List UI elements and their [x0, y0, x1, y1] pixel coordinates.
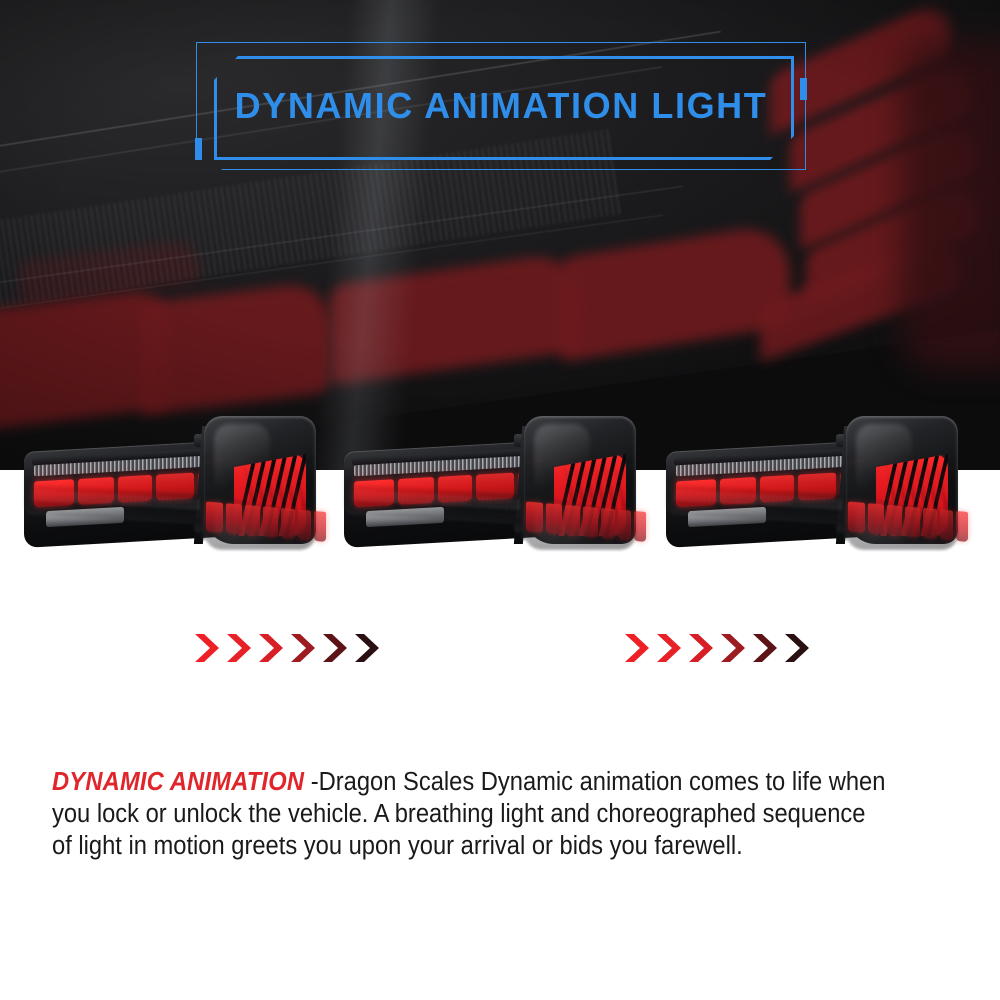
chevron-arrow-icon	[784, 633, 810, 663]
lamp-led-segment	[618, 425, 631, 456]
lamp-led-segment	[546, 431, 562, 462]
lamp-led-segment	[848, 433, 865, 464]
lamp-led-segment	[923, 427, 937, 458]
chevron-arrow-icon	[752, 633, 778, 663]
lamp-led-segment	[887, 430, 902, 461]
lamp-led-segment	[940, 425, 953, 456]
tail-light-unit-3-reflection	[660, 408, 960, 558]
lamp-led-segment	[245, 430, 260, 461]
lamp-led-segment	[281, 427, 295, 458]
chevron-arrow-icon	[258, 633, 284, 663]
chevron-arrow-icon	[688, 633, 714, 663]
lamp-led-segment	[226, 431, 242, 462]
lamp-led-segment	[298, 425, 311, 456]
tail-light-unit-2-reflection	[338, 408, 638, 558]
lamp-led-segment	[868, 431, 884, 462]
description-paragraph: DYNAMIC ANIMATION -Dragon Scales Dynamic…	[52, 766, 889, 862]
lamp-led-segment	[526, 433, 543, 464]
title-banner: DYNAMIC ANIMATION LIGHT	[196, 42, 806, 170]
description-lead: DYNAMIC ANIMATION	[52, 768, 304, 796]
lamp-led-segment	[156, 465, 194, 493]
lamp-led-segment	[905, 428, 920, 459]
chevron-arrow-icon	[322, 633, 348, 663]
lamp-led-segment	[263, 428, 278, 459]
lamp-led-segment	[438, 463, 472, 491]
chevron-arrow-icon	[354, 633, 380, 663]
lamp-led-segment	[720, 461, 756, 489]
lamp-led-segment	[601, 427, 615, 458]
lamp-led-segment	[354, 459, 394, 487]
lamp-led-segment	[476, 465, 514, 493]
chevron-arrow-icon	[624, 633, 650, 663]
chevron-arrow-icon	[656, 633, 682, 663]
product-marketing-page: DYNAMIC ANIMATION LIGHT DYNAMIC ANIMATIO…	[0, 0, 1000, 1000]
lamp-led-segment	[206, 433, 223, 464]
lamp-led-segment	[760, 463, 794, 491]
lamp-led-segment	[676, 459, 716, 487]
chevron-arrow-icon	[290, 633, 316, 663]
chevron-arrow-icon	[194, 633, 220, 663]
lamp-led-segment	[398, 461, 434, 489]
tail-light-unit-1-reflection	[18, 408, 318, 558]
lamp-led-segment	[798, 465, 836, 493]
page-title: DYNAMIC ANIMATION LIGHT	[196, 42, 806, 170]
hero-section: DYNAMIC ANIMATION LIGHT	[0, 0, 1000, 470]
chevron-arrow-icon	[226, 633, 252, 663]
lamp-led-segment	[78, 461, 114, 489]
chevron-arrow-icon	[720, 633, 746, 663]
lamp-led-segment	[583, 428, 598, 459]
lamp-led-segment	[34, 459, 74, 487]
lamp-led-segment	[118, 463, 152, 491]
lamp-led-segment	[565, 430, 580, 461]
